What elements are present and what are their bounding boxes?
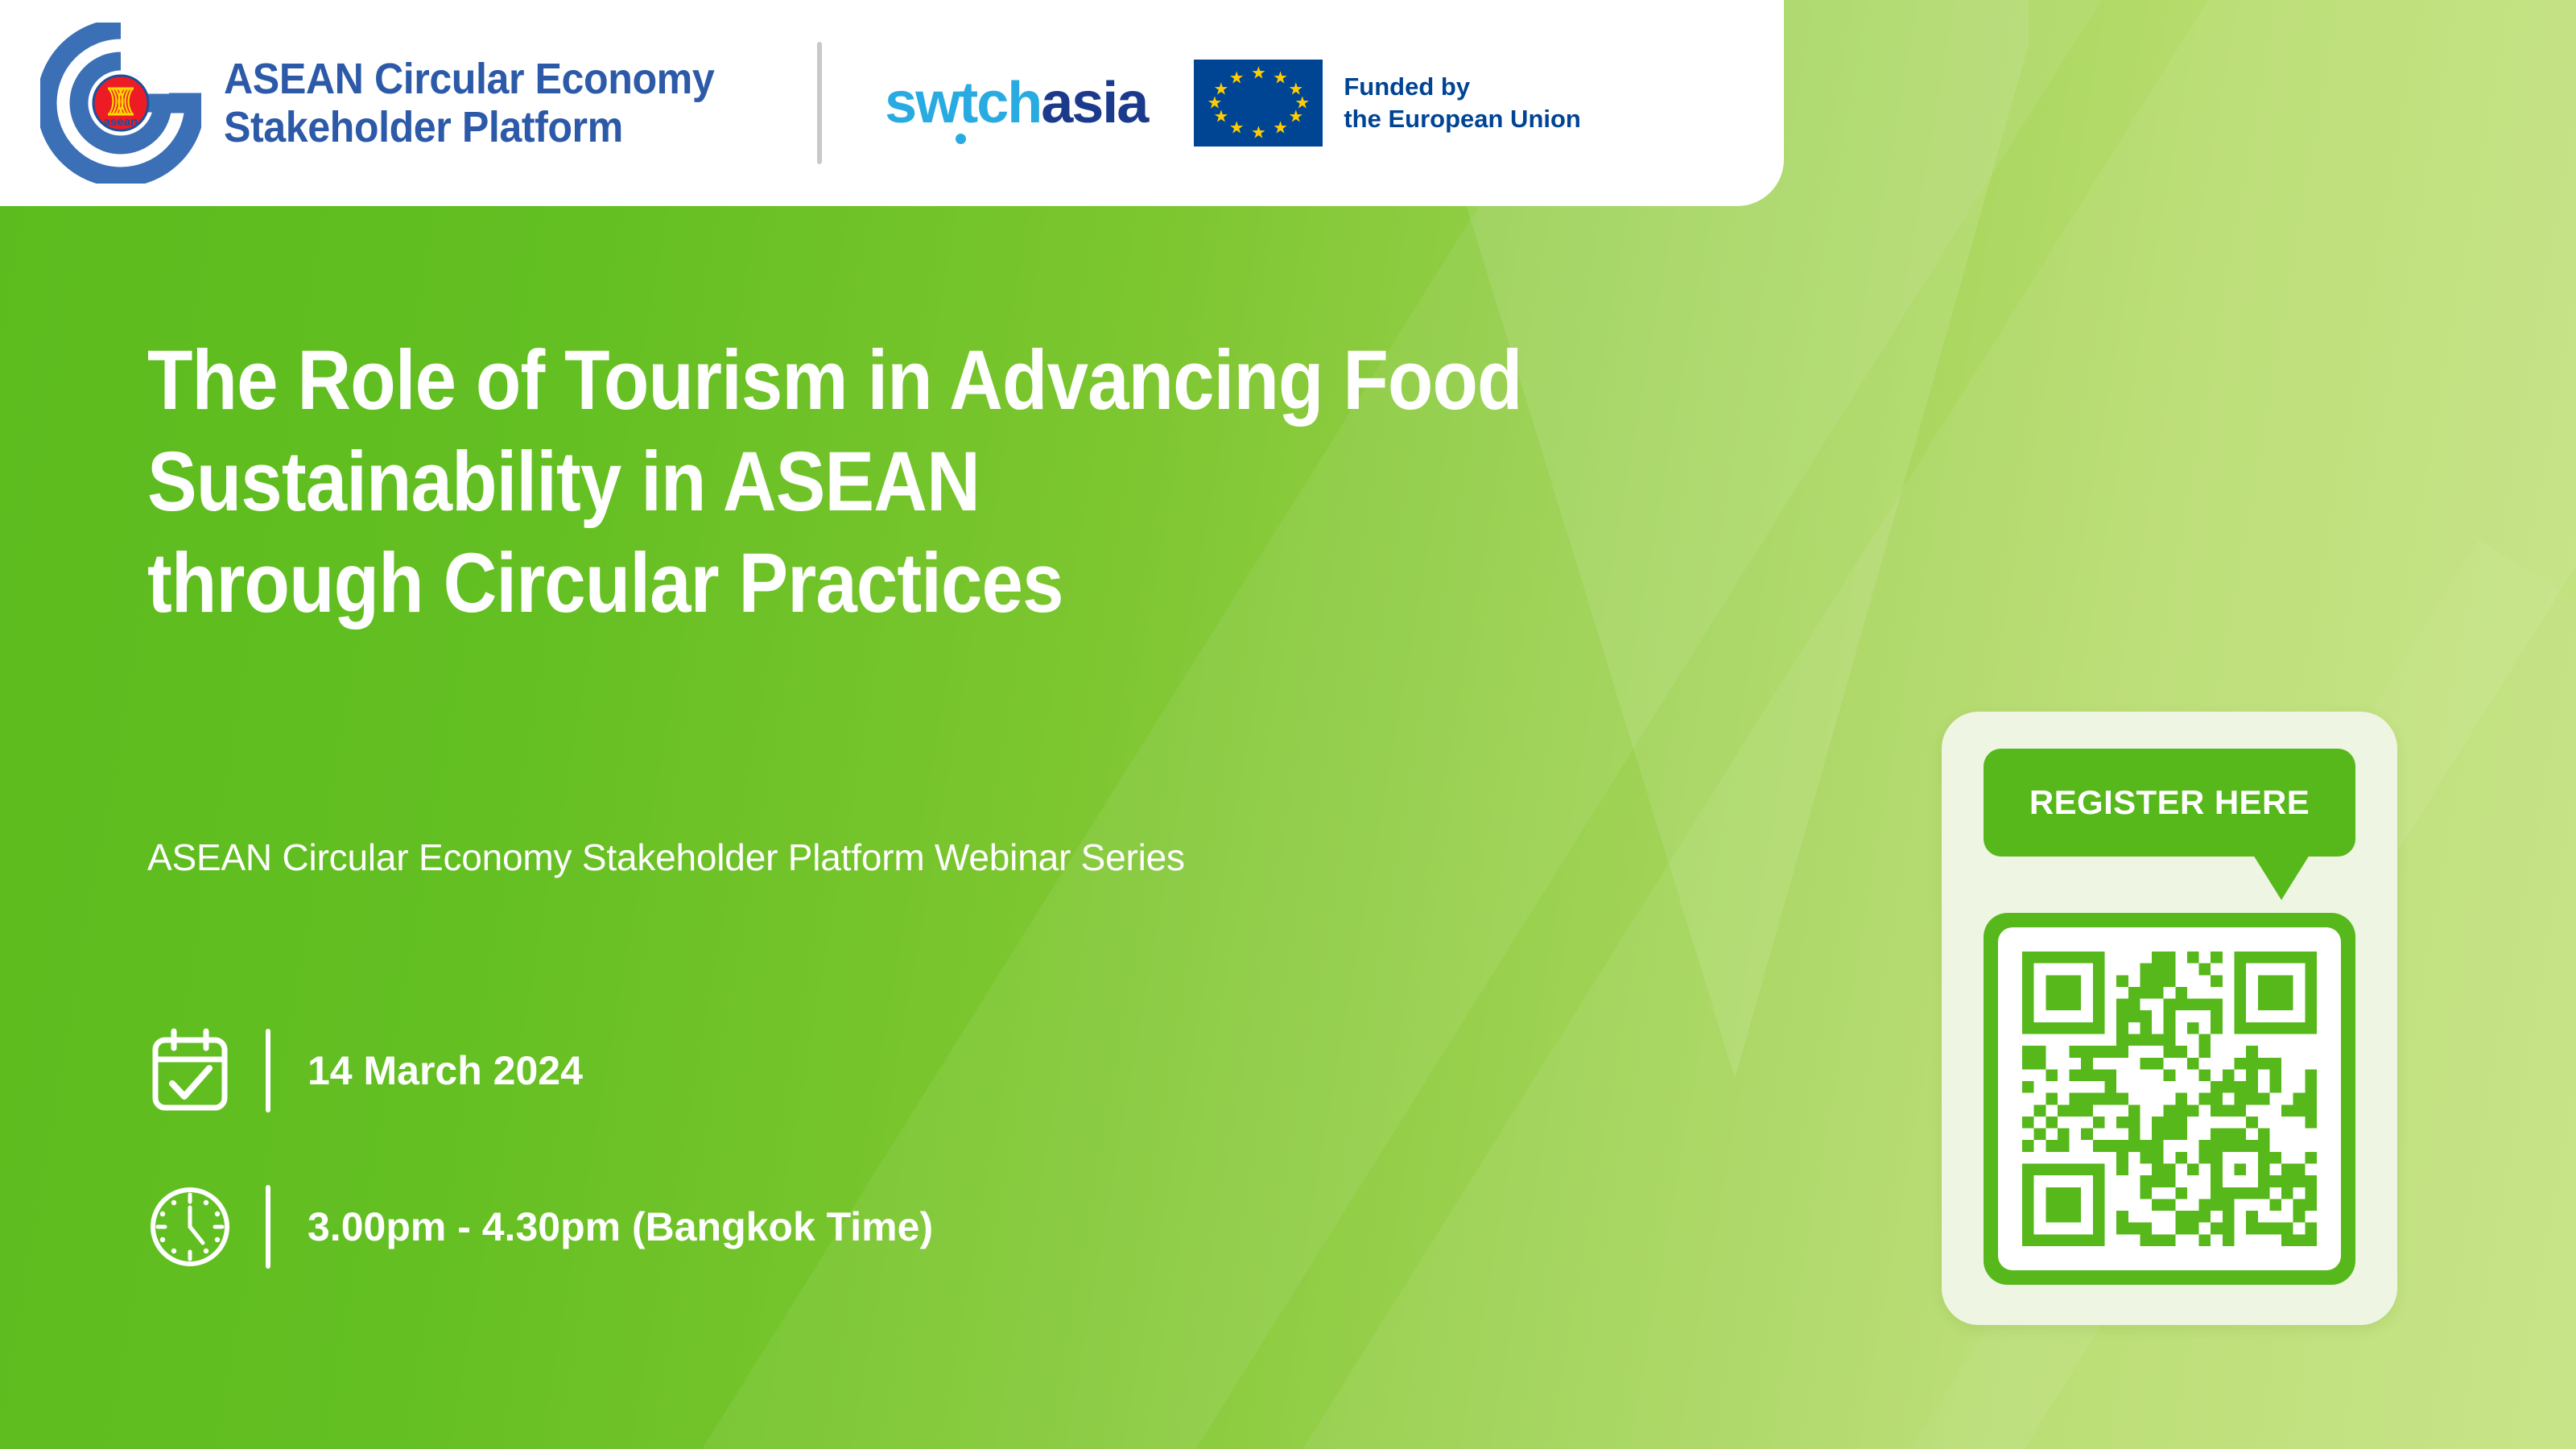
switchasia-logo: swtchasia (885, 74, 1147, 132)
page-title-line3: through Circular Practices (147, 533, 1564, 634)
header-content: asean ASEAN Circular Economy Stakeholder… (0, 0, 1687, 206)
platform-name: ASEAN Circular Economy Stakeholder Platf… (224, 55, 714, 152)
qr-code-icon[interactable] (2022, 952, 2317, 1246)
eu-star: ★ (1251, 65, 1266, 82)
register-here-label: REGISTER HERE (2029, 783, 2310, 822)
platform-name-line2: Stakeholder Platform (224, 103, 714, 151)
header-logo-bar: asean ASEAN Circular Economy Stakeholder… (0, 0, 1784, 206)
european-union-flag-icon: ★ ★ ★ ★ ★ ★ ★ ★ ★ ★ ★ ★ (1194, 60, 1323, 147)
switchasia-logo-dot (956, 134, 966, 144)
registration-card[interactable]: REGISTER HERE (1942, 712, 2397, 1325)
eu-star: ★ (1229, 120, 1245, 137)
calendar-check-icon (145, 1026, 235, 1116)
eu-star: ★ (1251, 124, 1266, 141)
page-title: The Role of Tourism in Advancing Food Su… (147, 330, 1564, 634)
eu-star: ★ (1214, 80, 1229, 97)
clock-icon (145, 1182, 235, 1272)
event-date: 14 March 2024 (308, 1047, 583, 1094)
page-subtitle: ASEAN Circular Economy Stakeholder Platf… (147, 836, 1185, 879)
event-time: 3.00pm - 4.30pm (Bangkok Time) (308, 1203, 933, 1250)
event-time-row: 3.00pm - 4.30pm (Bangkok Time) (145, 1166, 933, 1287)
event-date-row: 14 March 2024 (145, 1010, 933, 1131)
asean-circular-economy-logo-icon: asean (40, 23, 201, 184)
event-details: 14 March 2024 (145, 1010, 933, 1287)
speech-bubble-pointer (2253, 855, 2310, 900)
eu-star: ★ (1288, 109, 1303, 126)
qr-code-frame (1984, 913, 2355, 1285)
eu-funding-line2: the European Union (1344, 103, 1581, 135)
qr-code-panel (1998, 927, 2341, 1270)
register-here-button[interactable]: REGISTER HERE (1984, 749, 2355, 857)
eu-funding-block: ★ ★ ★ ★ ★ ★ ★ ★ ★ ★ ★ ★ Funded by the Eu… (1194, 60, 1581, 147)
eu-star: ★ (1273, 120, 1288, 137)
poster-canvas: asean ASEAN Circular Economy Stakeholder… (0, 0, 2576, 1449)
platform-name-line1: ASEAN Circular Economy (224, 55, 714, 103)
svg-text:asean: asean (104, 115, 138, 129)
page-title-line1: The Role of Tourism in Advancing Food (147, 330, 1564, 431)
eu-funding-line1: Funded by (1344, 71, 1581, 103)
time-separator (266, 1185, 270, 1269)
date-separator (266, 1029, 270, 1113)
eu-star: ★ (1273, 69, 1288, 86)
eu-star: ★ (1229, 69, 1245, 86)
switchasia-logo-part3: asia (1041, 71, 1147, 135)
header-divider (817, 42, 822, 164)
switchasia-logo-part2: tch (959, 71, 1041, 135)
switchasia-logo-part1: sw (885, 71, 959, 135)
page-title-line2: Sustainability in ASEAN (147, 431, 1564, 533)
eu-funding-text: Funded by the European Union (1344, 71, 1581, 136)
